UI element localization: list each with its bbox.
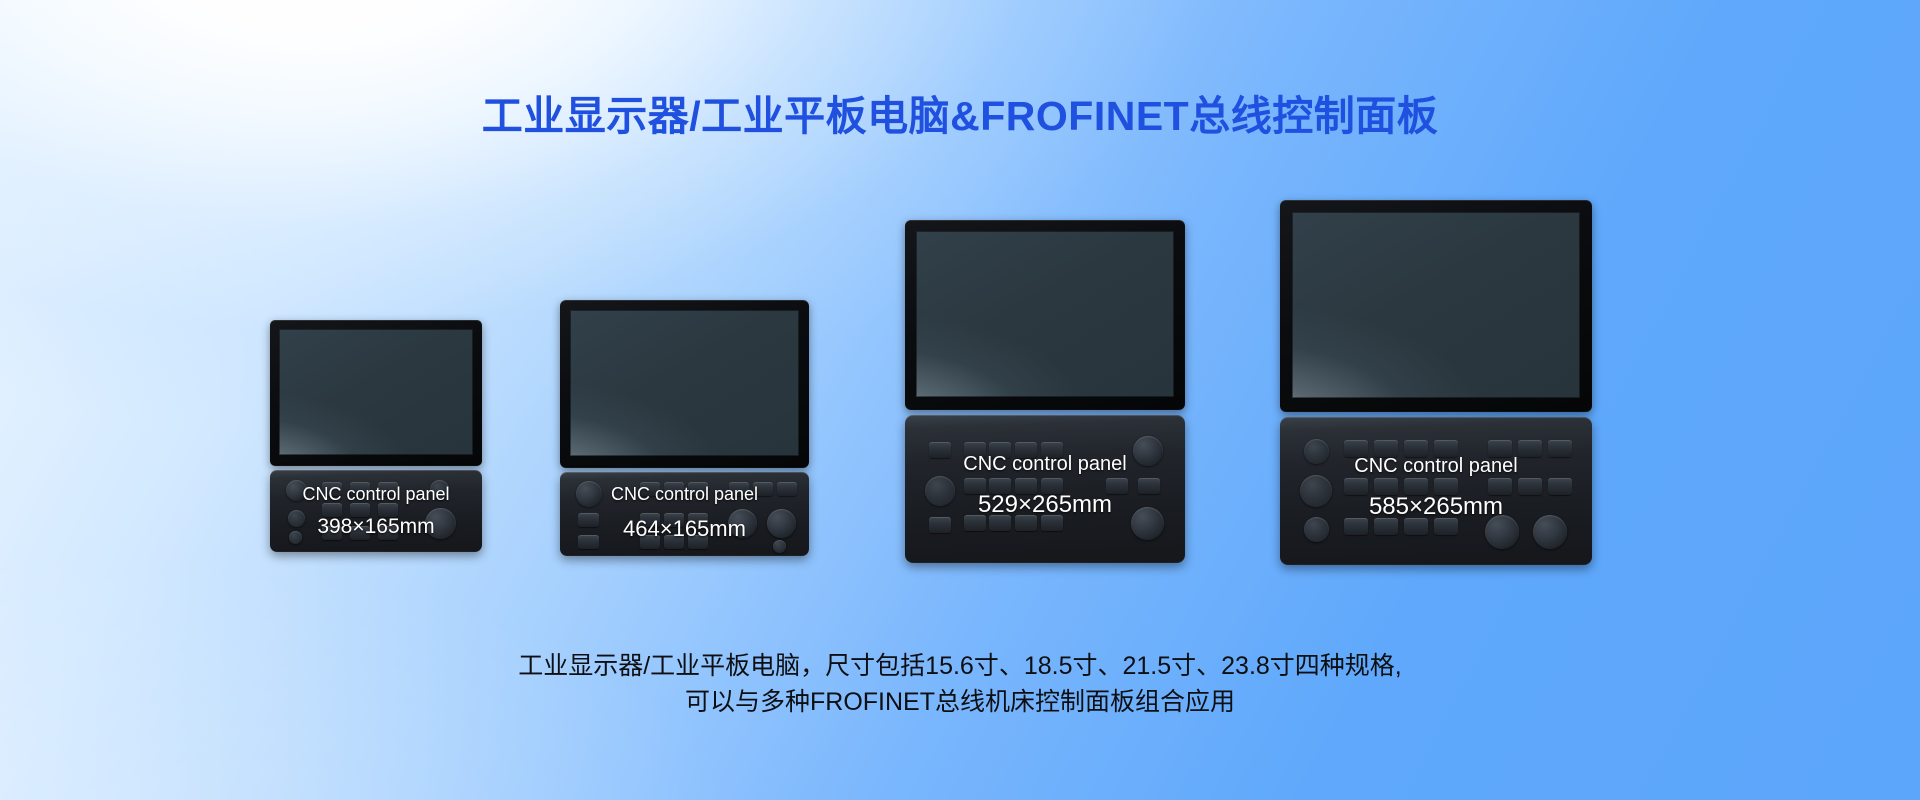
display-screen-3 — [916, 231, 1174, 397]
key-button[interactable] — [664, 513, 684, 527]
key-button[interactable] — [322, 503, 342, 517]
control-layer-1 — [270, 470, 482, 552]
key-button[interactable] — [1518, 440, 1542, 457]
key-button[interactable] — [378, 503, 398, 517]
key-button[interactable] — [1344, 478, 1368, 495]
key-button[interactable] — [664, 535, 684, 549]
key-button[interactable] — [688, 535, 708, 549]
key-button[interactable] — [1138, 478, 1160, 494]
knob-icon[interactable] — [767, 509, 796, 538]
key-button[interactable] — [378, 526, 398, 540]
key-button[interactable] — [1548, 478, 1572, 495]
key-button[interactable] — [777, 482, 797, 496]
key-button[interactable] — [350, 503, 370, 517]
key-button[interactable] — [378, 482, 398, 496]
knob-icon[interactable] — [425, 508, 456, 539]
key-button[interactable] — [989, 442, 1011, 458]
key-button[interactable] — [1374, 440, 1398, 457]
key-button[interactable] — [578, 535, 599, 549]
control-layer-4 — [1280, 417, 1592, 565]
product-banner: 工业显示器/工业平板电脑&FROFINET总线控制面板 — [0, 0, 1920, 800]
knob-icon[interactable] — [1304, 439, 1329, 464]
key-button[interactable] — [664, 482, 684, 496]
key-button[interactable] — [1434, 440, 1458, 457]
knob-icon[interactable] — [1533, 515, 1567, 549]
key-button[interactable] — [1374, 518, 1398, 535]
product-lineup: CNC control panel 398×165mm — [0, 180, 1920, 620]
key-button[interactable] — [1106, 478, 1128, 494]
key-button[interactable] — [1488, 478, 1512, 495]
key-button[interactable] — [1404, 440, 1428, 457]
key-button[interactable] — [1434, 518, 1458, 535]
display-bezel-1 — [270, 320, 482, 466]
knob-icon[interactable] — [1131, 507, 1164, 540]
key-button[interactable] — [1041, 442, 1063, 458]
knob-icon[interactable] — [1304, 517, 1329, 542]
knob-icon[interactable] — [289, 531, 302, 544]
control-layer-3 — [905, 415, 1185, 563]
cnc-control-panel-2[interactable]: CNC control panel 464×165mm — [560, 472, 809, 556]
key-button[interactable] — [1548, 440, 1572, 457]
product-unit-2[interactable]: CNC control panel 464×165mm — [560, 300, 809, 620]
key-button[interactable] — [1015, 442, 1037, 458]
key-button[interactable] — [1344, 440, 1368, 457]
key-button[interactable] — [989, 515, 1011, 531]
display-screen-4 — [1292, 212, 1580, 398]
knob-icon[interactable] — [773, 540, 786, 553]
cnc-control-panel-4[interactable]: CNC control panel 585×265mm — [1280, 417, 1592, 565]
control-layer-2 — [560, 472, 809, 556]
key-button[interactable] — [753, 482, 773, 496]
knob-icon[interactable] — [286, 480, 307, 501]
key-button[interactable] — [322, 526, 342, 540]
display-bezel-2 — [560, 300, 809, 468]
key-button[interactable] — [640, 513, 660, 527]
product-unit-3[interactable]: CNC control panel 529×265mm — [905, 220, 1185, 620]
key-button[interactable] — [688, 482, 708, 496]
knob-icon[interactable] — [288, 510, 305, 527]
key-button[interactable] — [1041, 478, 1063, 494]
key-button[interactable] — [1404, 518, 1428, 535]
knob-icon[interactable] — [1133, 436, 1163, 466]
footnote: 工业显示器/工业平板电脑，尺寸包括15.6寸、18.5寸、21.5寸、23.8寸… — [0, 648, 1920, 720]
key-button[interactable] — [964, 442, 986, 458]
key-button[interactable] — [1404, 478, 1428, 495]
key-button[interactable] — [964, 478, 986, 494]
key-button[interactable] — [578, 513, 599, 527]
key-button[interactable] — [688, 513, 708, 527]
key-button[interactable] — [1374, 478, 1398, 495]
footnote-line-2: 可以与多种FROFINET总线机床控制面板组合应用 — [0, 684, 1920, 720]
display-bezel-4 — [1280, 200, 1592, 412]
key-button[interactable] — [1015, 478, 1037, 494]
knob-icon[interactable] — [728, 509, 757, 538]
key-button[interactable] — [1041, 515, 1063, 531]
product-unit-4[interactable]: CNC control panel 585×265mm — [1280, 200, 1592, 620]
key-button[interactable] — [729, 482, 749, 496]
page-title: 工业显示器/工业平板电脑&FROFINET总线控制面板 — [0, 82, 1920, 142]
cnc-control-panel-3[interactable]: CNC control panel 529×265mm — [905, 415, 1185, 563]
product-unit-1[interactable]: CNC control panel 398×165mm — [270, 320, 482, 620]
key-button[interactable] — [1434, 478, 1458, 495]
key-button[interactable] — [1344, 518, 1368, 535]
knob-icon[interactable] — [1485, 515, 1519, 549]
key-button[interactable] — [640, 535, 660, 549]
key-button[interactable] — [929, 517, 951, 533]
knob-icon[interactable] — [925, 476, 955, 506]
knob-icon[interactable] — [576, 481, 602, 507]
key-button[interactable] — [322, 482, 342, 496]
key-button[interactable] — [640, 482, 660, 496]
knob-icon[interactable] — [1300, 475, 1332, 507]
knob-icon[interactable] — [430, 480, 449, 499]
display-bezel-3 — [905, 220, 1185, 410]
key-button[interactable] — [989, 478, 1011, 494]
key-button[interactable] — [350, 526, 370, 540]
key-button[interactable] — [1518, 478, 1542, 495]
cnc-control-panel-1[interactable]: CNC control panel 398×165mm — [270, 470, 482, 552]
key-button[interactable] — [1015, 515, 1037, 531]
key-button[interactable] — [929, 442, 951, 458]
key-button[interactable] — [1488, 440, 1512, 457]
footnote-line-1: 工业显示器/工业平板电脑，尺寸包括15.6寸、18.5寸、21.5寸、23.8寸… — [0, 648, 1920, 684]
display-screen-1 — [279, 329, 473, 455]
key-button[interactable] — [964, 515, 986, 531]
display-screen-2 — [570, 310, 799, 456]
key-button[interactable] — [350, 482, 370, 496]
